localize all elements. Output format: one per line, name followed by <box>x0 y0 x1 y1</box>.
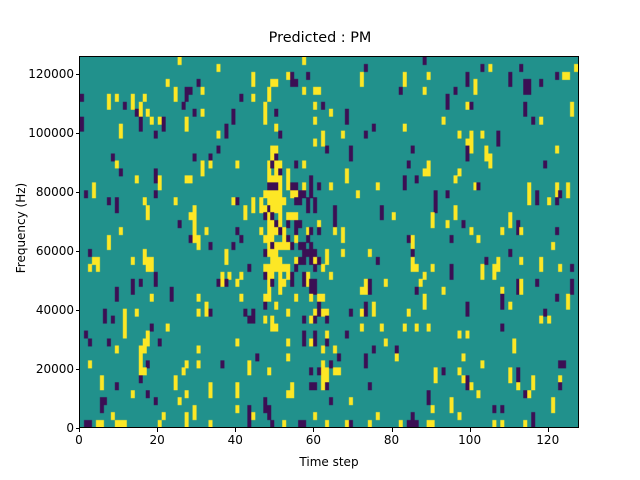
heatmap-image <box>80 57 578 427</box>
x-tick-label: 80 <box>362 433 422 447</box>
x-tick-mark <box>79 428 80 432</box>
y-tick-mark <box>76 133 80 134</box>
x-tick-label: 20 <box>127 433 187 447</box>
y-tick-mark <box>76 192 80 193</box>
x-tick-mark <box>470 428 471 432</box>
x-tick-mark <box>157 428 158 432</box>
y-tick-label: 0 <box>66 422 74 434</box>
y-tick-mark <box>76 74 80 75</box>
y-tick-label: 120000 <box>28 68 74 80</box>
x-axis-label: Time step <box>79 455 579 469</box>
heatmap-axes <box>79 56 579 428</box>
x-tick-label: 0 <box>49 433 109 447</box>
matplotlib-figure: Predicted : PM 0204060801001200200004000… <box>0 0 640 480</box>
x-tick-mark <box>235 428 236 432</box>
x-tick-label: 100 <box>440 433 500 447</box>
y-tick-label: 20000 <box>36 363 74 375</box>
x-tick-mark <box>313 428 314 432</box>
x-tick-label: 60 <box>283 433 343 447</box>
y-tick-label: 40000 <box>36 304 74 316</box>
y-tick-label: 100000 <box>28 127 74 139</box>
x-tick-label: 120 <box>518 433 578 447</box>
y-tick-mark <box>76 428 80 429</box>
x-tick-mark <box>392 428 393 432</box>
y-tick-label: 80000 <box>36 186 74 198</box>
y-tick-mark <box>76 369 80 370</box>
y-tick-mark <box>76 310 80 311</box>
y-tick-mark <box>76 251 80 252</box>
chart-title: Predicted : PM <box>0 30 640 46</box>
x-tick-mark <box>548 428 549 432</box>
y-tick-label: 60000 <box>36 245 74 257</box>
y-axis-label: Frequency (Hz) <box>14 42 28 414</box>
x-tick-label: 40 <box>205 433 265 447</box>
